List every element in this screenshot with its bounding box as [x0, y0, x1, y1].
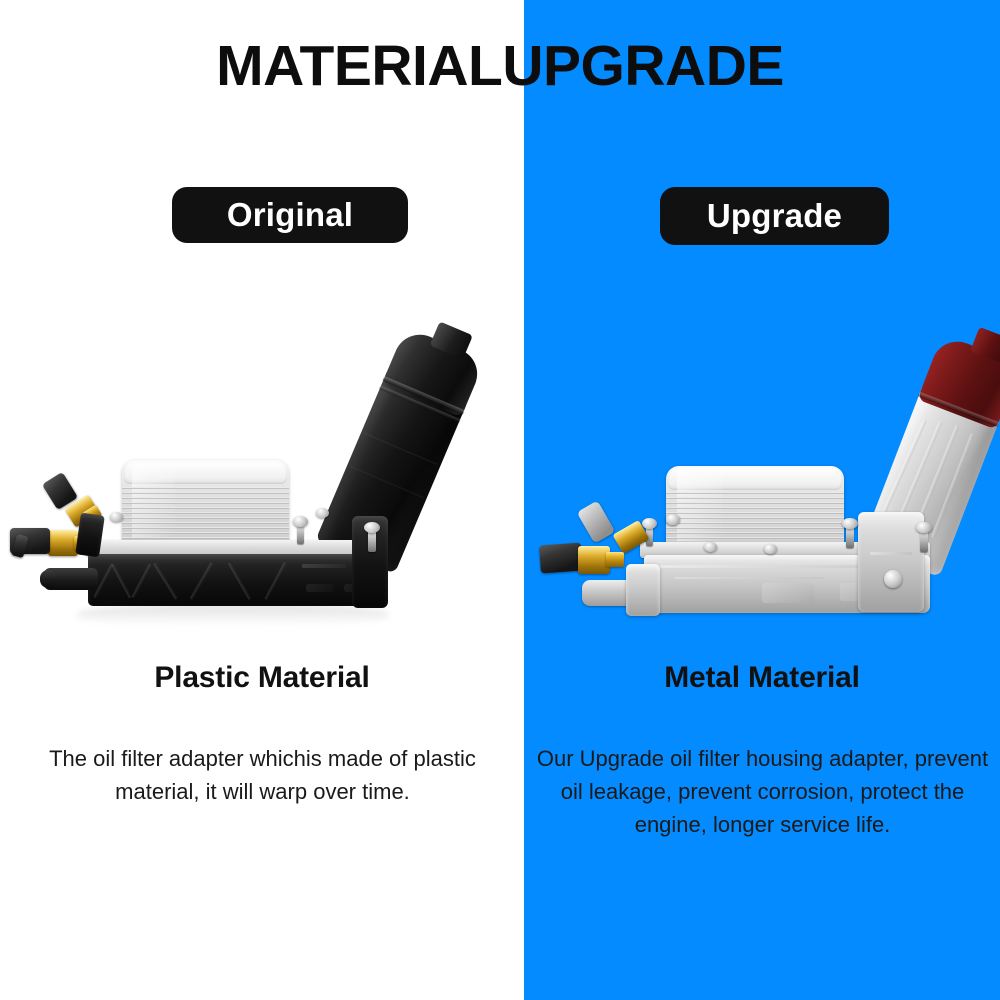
reflection-shadow [78, 604, 388, 626]
badge-original: Original [172, 187, 408, 243]
oil-cooler-plate-stack-icon [122, 460, 289, 545]
brass-fitting-icon [606, 552, 624, 567]
left-caption-body: The oil filter adapter whichis made of p… [20, 742, 505, 808]
bolt-icon [293, 516, 308, 527]
bolt-icon [642, 518, 657, 529]
right-caption-title: Metal Material [534, 661, 990, 695]
metal-boss [626, 564, 660, 616]
product-comparison-banner: MATERIALUPGRADE Original Upgrade [0, 0, 1000, 1000]
metal-housing-pillar [858, 512, 924, 612]
oil-cooler-plate-stack-icon [666, 466, 844, 548]
bolt-icon [364, 522, 380, 533]
product-image-upgrade [540, 300, 1000, 630]
filter-canister-icon [315, 310, 492, 574]
electrical-connector-icon [577, 500, 616, 543]
badge-original-label: Original [227, 196, 353, 234]
plastic-housing-body [88, 554, 388, 606]
product-image-original [0, 300, 500, 630]
badge-upgrade: Upgrade [660, 187, 889, 245]
bolt-icon [316, 508, 329, 518]
electrical-connector-icon [539, 543, 583, 574]
page-title: MATERIALUPGRADE [0, 34, 1000, 98]
badge-upgrade-label: Upgrade [707, 197, 842, 235]
bolt-icon [842, 518, 858, 529]
bolt-icon [764, 544, 777, 554]
right-caption-body: Our Upgrade oil filter housing adapter, … [530, 742, 995, 841]
hose-nipple-tip [40, 570, 56, 588]
left-caption-title: Plastic Material [12, 661, 512, 695]
bolt-icon [666, 514, 680, 525]
bolt-icon [110, 512, 123, 522]
bolt-icon [916, 522, 932, 533]
bolt-icon [704, 542, 717, 552]
